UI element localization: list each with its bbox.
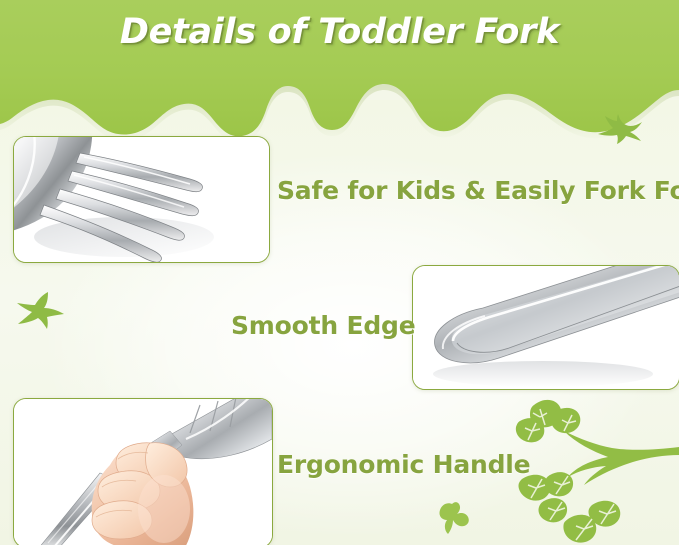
swallow-bird-icon (14, 288, 68, 330)
feature-label-smooth-edge: Smooth Edge (231, 311, 415, 340)
fork-tines-photo (14, 137, 269, 262)
product-detail-infographic: Details of Toddler Fork (0, 0, 679, 545)
page-title: Details of Toddler Fork (0, 12, 679, 52)
feature-image-card-ergonomic-handle[interactable] (13, 398, 273, 545)
feature-label-safe-for-kids: Safe for Kids & Easily Fork Food (277, 176, 679, 205)
fork-smooth-edge-photo (413, 266, 679, 389)
feature-image-card-tines[interactable] (13, 136, 270, 263)
feature-image-card-smooth-edge[interactable] (412, 265, 679, 390)
header-banner: Details of Toddler Fork (0, 0, 679, 148)
hand-holding-fork-photo (14, 399, 272, 545)
butterfly-icon (434, 500, 474, 538)
feature-label-ergonomic-handle: Ergonomic Handle (277, 450, 530, 479)
